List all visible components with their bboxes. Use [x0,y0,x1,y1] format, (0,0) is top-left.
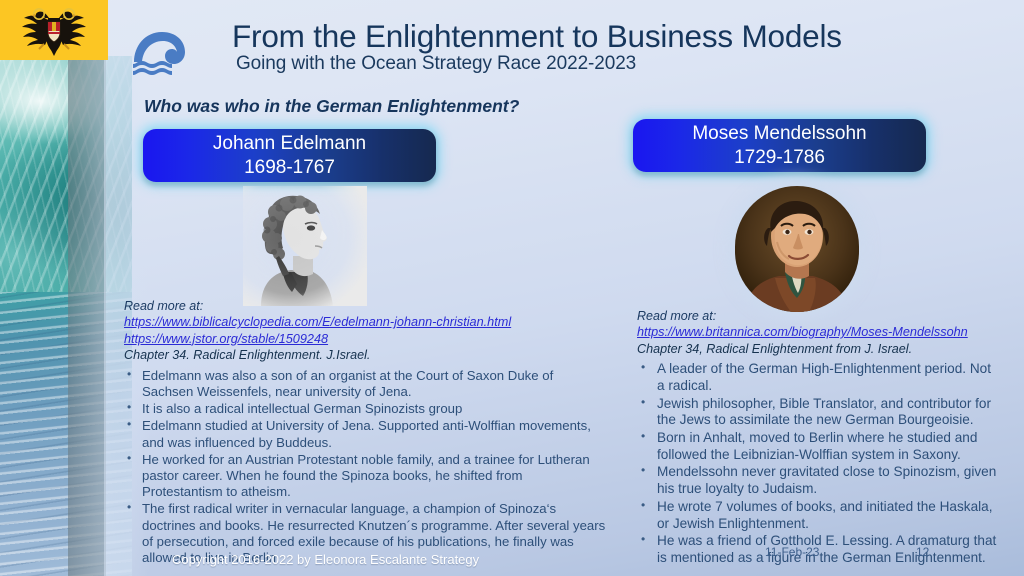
right-chapter-reference: Chapter 34, Radical Enlightenment from J… [637,341,1001,357]
right-read-more-label: Read more at: [637,309,716,323]
name-plate-left[interactable]: Johann Edelmann 1698-1767 [143,129,436,182]
left-content-column: Read more at: https://www.biblicalcyclop… [124,298,606,567]
holy-roman-empire-flag [0,0,108,60]
list-item: Edelmann studied at University of Jena. … [124,418,606,450]
person-years-left: 1698-1767 [143,156,436,180]
left-chapter-reference: Chapter 34. Radical Enlightenment. J.Isr… [124,347,606,363]
page-title: From the Enlightenment to Business Model… [232,18,842,55]
person-years-right: 1729-1786 [633,146,926,170]
list-item: Mendelssohn never gravitated close to Sp… [637,464,1001,497]
person-name-right: Moses Mendelssohn [633,122,926,146]
engraved-portrait-icon [243,186,367,306]
oval-portrait-frame [735,186,859,312]
left-link-1[interactable]: https://www.biblicalcyclopedia.com/E/ede… [124,314,606,331]
right-content-column: Read more at: https://www.britannica.com… [637,308,1001,568]
slide-date: 11-Feb-23 [765,545,819,559]
portrait-johann-edelmann [243,186,367,306]
list-item: Jewish philosopher, Bible Translator, an… [637,396,1001,429]
left-read-more-label: Read more at: [124,299,203,313]
section-question: Who was who in the German Enlightenment? [144,96,519,117]
list-item: A leader of the German High-Enlightenmen… [637,361,1001,394]
vertical-gray-band [68,56,106,576]
person-name-left: Johann Edelmann [143,132,436,156]
slide: From the Enlightenment to Business Model… [0,0,1024,576]
left-link-2[interactable]: https://www.jstor.org/stable/1509248 [124,331,606,348]
double-headed-eagle-icon [18,4,90,56]
list-item: Born in Anhalt, moved to Berlin where he… [637,430,1001,463]
right-read-more: Read more at: https://www.britannica.com… [637,308,1001,357]
left-read-more: Read more at: https://www.biblicalcyclop… [124,298,606,364]
name-plate-right[interactable]: Moses Mendelssohn 1729-1786 [633,119,926,172]
right-bullet-list: A leader of the German High-Enlightenmen… [637,361,1001,567]
list-item: He wrote 7 volumes of books, and initiat… [637,499,1001,532]
portrait-moses-mendelssohn [735,186,859,312]
list-item: Edelmann was also a son of an organist a… [124,368,606,400]
left-bullet-list: Edelmann was also a son of an organist a… [124,368,606,567]
list-item: It is also a radical intellectual German… [124,401,606,417]
right-link-1[interactable]: https://www.britannica.com/biography/Mos… [637,324,1001,341]
copyright-notice: Copyright 2016-2022 by Eleonora Escalant… [172,552,479,567]
ocean-wave-icon [129,26,205,82]
page-subtitle: Going with the Ocean Strategy Race 2022-… [236,53,636,75]
oil-portrait-icon [735,186,859,312]
slide-page-number: 12 [916,545,929,559]
list-item: He worked for an Austrian Protestant nob… [124,452,606,501]
